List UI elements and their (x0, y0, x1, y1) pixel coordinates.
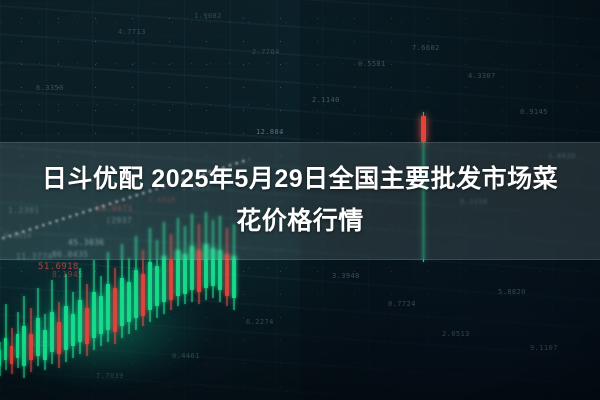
page-title: 日斗优配 2025年5月29日全国主要批发市场菜 花价格行情 (0, 158, 600, 242)
candle-body (99, 296, 103, 334)
candle-body (120, 278, 124, 326)
candle-body (225, 254, 229, 296)
candle-body (10, 346, 13, 364)
spike-body (421, 116, 426, 142)
candle-wick (5, 304, 6, 370)
candle-body (85, 308, 89, 344)
candle-body (134, 270, 138, 318)
banner-image: 45.303686.043511.377451.691828.9473(2937… (0, 0, 600, 400)
candle-body (141, 274, 145, 316)
candle-body (50, 312, 54, 352)
candle-body (43, 330, 47, 360)
candle-body (162, 256, 166, 302)
candle-body (0, 350, 1, 366)
candle-body (36, 318, 40, 356)
candle-body (232, 256, 236, 298)
candle-body (71, 314, 75, 346)
candle-body (4, 338, 7, 360)
candle-body (155, 266, 159, 306)
candle-body (113, 288, 117, 332)
title-line-1: 日斗优配 2025年5月29日全国主要批发市场菜 (28, 158, 572, 200)
candle-body (183, 254, 187, 294)
candle-body (127, 282, 131, 322)
candle-body (57, 322, 61, 354)
candle-body (169, 260, 173, 300)
candle-body (22, 326, 26, 366)
title-line-2: 花价格行情 (28, 200, 572, 242)
candle-body (148, 262, 152, 310)
candle-body (106, 284, 110, 330)
candle-body (78, 300, 82, 342)
candle-body (29, 334, 33, 360)
candle-body (92, 292, 96, 338)
candle-body (16, 334, 19, 358)
candle-body (64, 306, 68, 350)
